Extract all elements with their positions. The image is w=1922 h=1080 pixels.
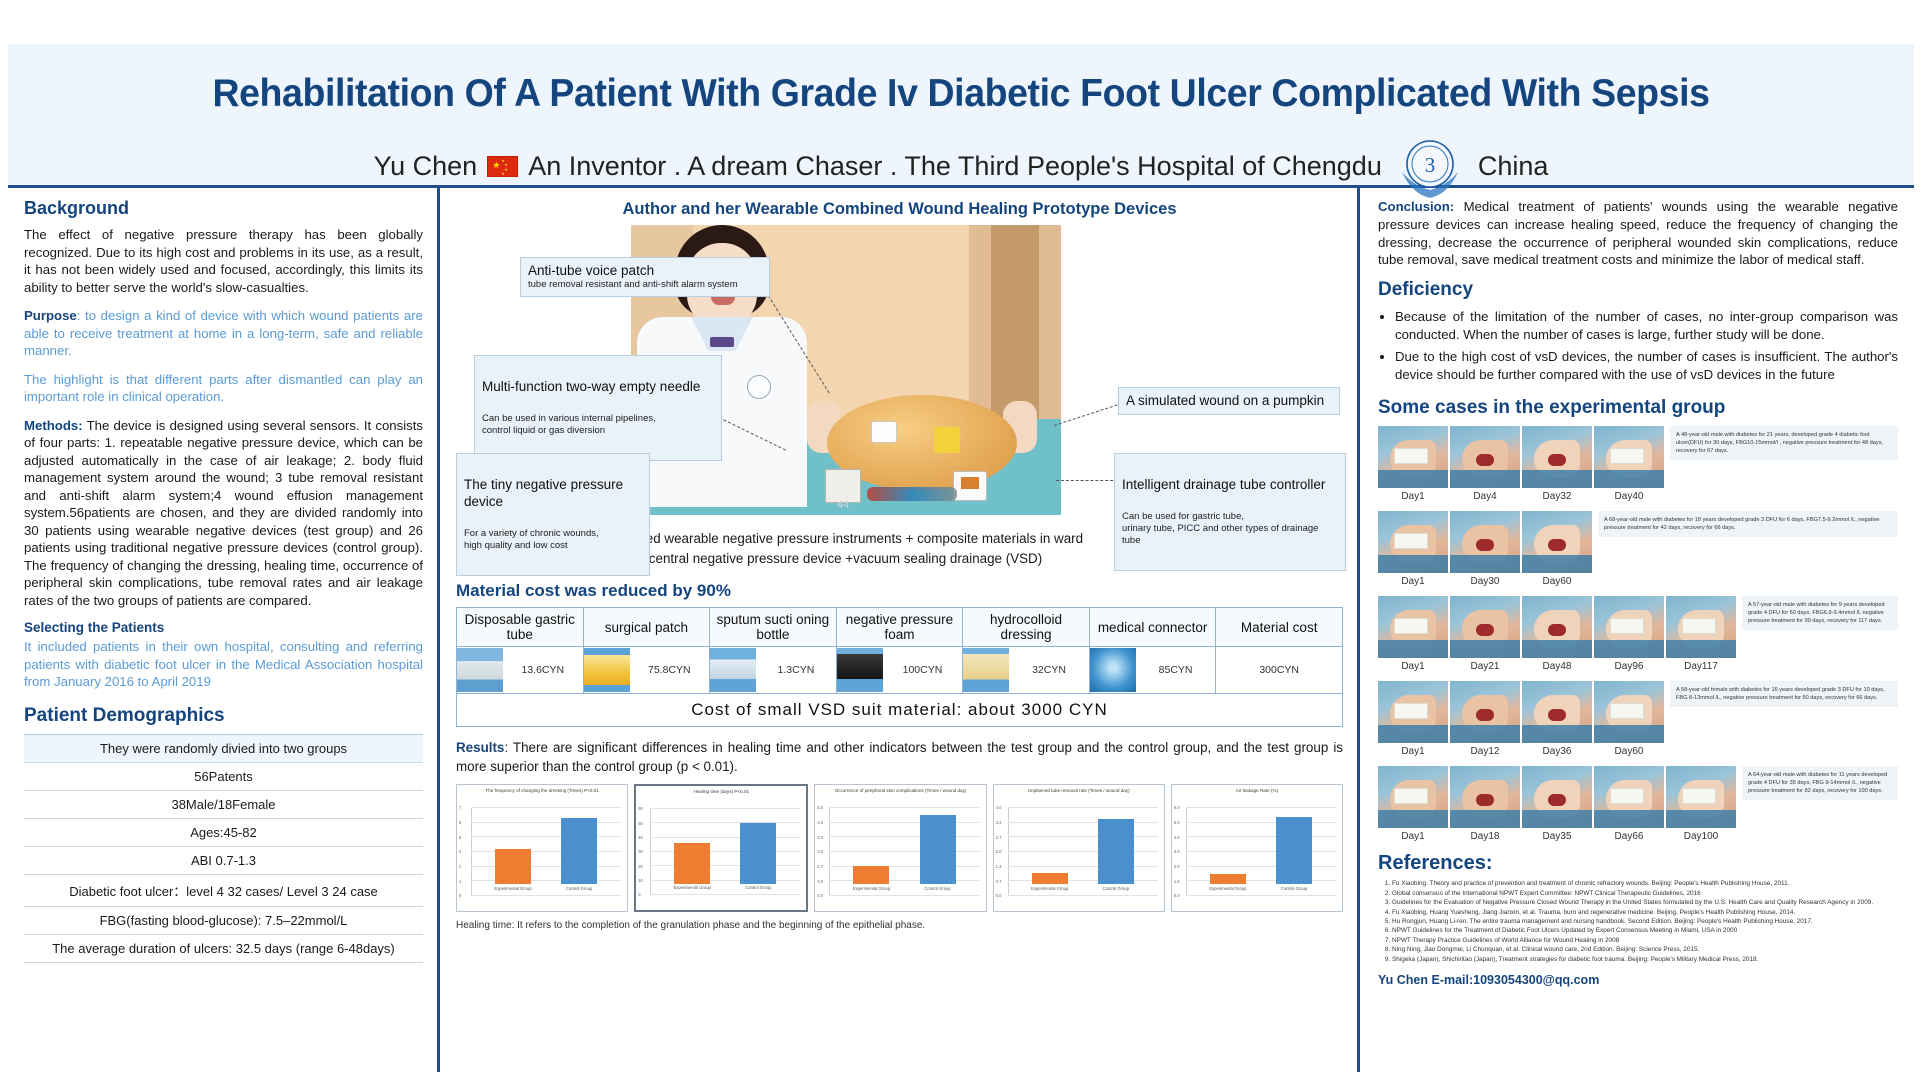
case-image-cell: Day66: [1594, 766, 1664, 842]
case-image-cell: Day1: [1378, 426, 1448, 502]
case-drape: [1522, 810, 1592, 828]
photo-voice-patch-device: [871, 421, 897, 443]
leader-line-4: [1056, 480, 1118, 481]
case-day-label: Day30: [1450, 573, 1520, 587]
photo-hospital-badge: [747, 375, 771, 399]
reference-item: Fu Xiaobing, Huang Yuesheng, Jiang Jianx…: [1392, 908, 1898, 917]
case-image-cell: Day36: [1522, 681, 1592, 757]
cost-cell-inner: 75.8CYN: [584, 647, 710, 693]
poster-columns: Background The effect of negative pressu…: [8, 188, 1914, 1072]
cost-header-cell: surgical patch: [583, 608, 710, 647]
case-image-cell: Day21: [1450, 596, 1520, 672]
case-day-label: Day1: [1378, 743, 1448, 757]
cost-header-cell: hydrocolloid dressing: [963, 608, 1090, 647]
case-photo: [1522, 511, 1592, 573]
cost-price: 100CYN: [883, 664, 963, 676]
case-day-label: Day35: [1522, 828, 1592, 842]
case-row: Day1Day30Day60A 68-year-old male with di…: [1378, 511, 1898, 587]
callout-title: Anti-tube voice patch: [528, 262, 762, 279]
chart-y-tick: 2.0: [1174, 864, 1180, 869]
chart-bar: [1210, 874, 1246, 884]
case-image-cell: Day96: [1594, 596, 1664, 672]
callout-title: The tiny negative pressure device: [464, 476, 642, 510]
case-drape: [1378, 555, 1448, 573]
chart-title: Unplanned tube removal rate (Times / wou…: [996, 788, 1162, 806]
callout-simulated-wound: A simulated wound on a pumpkin: [1118, 387, 1340, 415]
background-heading: Background: [24, 198, 423, 219]
chart-y-tick: 0.8: [817, 879, 823, 884]
demo-cell: Ages:45-82: [24, 818, 423, 846]
cost-price: 1.3CYN: [756, 664, 836, 676]
table-row-headers: Disposable gastric tube surgical patch s…: [457, 608, 1343, 647]
case-day-label: Day1: [1378, 488, 1448, 502]
demo-cell: FBG(fasting blood-glucose): 7.5–22mmol/L: [24, 906, 423, 934]
chart-gridline: [650, 837, 800, 838]
chart-gridline: [1186, 851, 1336, 852]
purpose-paragraph: Purpose: to design a kind of device with…: [24, 307, 423, 360]
list-item: Because of the limitation of the number …: [1395, 308, 1898, 344]
case-day-label: Day66: [1594, 828, 1664, 842]
case-drape: [1378, 810, 1448, 828]
cost-header-cell: sputum sucti oning bottle: [710, 608, 837, 647]
conclusion-label: Conclusion:: [1378, 199, 1454, 214]
chart-gridline: [471, 836, 621, 837]
cases-container: Day1Day4Day32Day40A 48-year-old male wit…: [1378, 426, 1898, 842]
callout-subtitle: Can be used for gastric tube, urinary tu…: [1122, 511, 1338, 547]
chart-gridline: [1008, 822, 1158, 823]
chart-y-tick: 40: [638, 835, 643, 840]
case-day-label: Day60: [1594, 743, 1664, 757]
case-image-cell: Day1: [1378, 596, 1448, 672]
case-photo: [1522, 766, 1592, 828]
table-row: Ages:45-82: [24, 818, 423, 846]
list-item: Due to the high cost of vsD devices, the…: [1395, 348, 1898, 384]
purpose-text: : to design a kind of device with which …: [24, 308, 423, 358]
case-dressing: [1394, 703, 1428, 719]
author-name: Yu Chen: [374, 151, 478, 182]
chart-bar: [1032, 873, 1068, 885]
cost-value-cell: 100CYN: [836, 647, 963, 694]
case-photo: [1594, 681, 1664, 743]
highlight-text: The highlight is that different parts af…: [24, 371, 423, 406]
chart-2: Healing time (days) P<0.016050403020100E…: [634, 784, 808, 912]
case-day-label: Day117: [1666, 658, 1736, 672]
case-drape: [1666, 810, 1736, 828]
case-day-label: Day32: [1522, 488, 1592, 502]
case-photo: [1450, 681, 1520, 743]
callout-multifunction-needle: Multi-function two-way empty needle Can …: [474, 355, 722, 461]
chart-y-tick: 4.0: [1174, 835, 1180, 840]
reference-item: Guidelines for the Evaluation of Negativ…: [1392, 898, 1898, 907]
case-dressing: [1394, 788, 1428, 804]
chart-4: Unplanned tube removal rate (Times / wou…: [993, 784, 1165, 912]
page-title: Rehabilitation Of A Patient With Grade I…: [46, 72, 1876, 116]
chart-gridline: [650, 808, 800, 809]
chart-gridline: [829, 866, 979, 867]
table-row: 38Male/18Female: [24, 790, 423, 818]
chart-y-tick: 1: [459, 879, 461, 884]
deficiency-heading: Deficiency: [1378, 279, 1898, 301]
case-wound: [1548, 624, 1566, 636]
case-drape: [1666, 640, 1736, 658]
case-image-cell: Day1: [1378, 681, 1448, 757]
table-row: 56Patents: [24, 762, 423, 790]
cost-header-cell: negative pressure foam: [836, 608, 963, 647]
chart-gridline: [1186, 836, 1336, 837]
column-right: Conclusion: Medical treatment of patient…: [1360, 188, 1914, 1072]
product-thumbnail-hydrocolloid-dressing: [963, 648, 1009, 692]
case-image-strip: Day1Day12Day36Day60: [1378, 681, 1664, 757]
background-text: The effect of negative pressure therapy …: [24, 226, 423, 296]
case-drape: [1450, 640, 1520, 658]
chart-y-tick: 50: [638, 821, 643, 826]
case-drape: [1378, 640, 1448, 658]
chart-gridline: [1186, 895, 1336, 896]
results-label: Results: [456, 740, 504, 755]
chart-y-tick: 0.0: [817, 893, 823, 898]
case-drape: [1594, 470, 1664, 488]
material-cost-heading: Material cost was reduced by 90%: [456, 581, 1343, 601]
case-image-cell: Day60: [1594, 681, 1664, 757]
demo-cell: 56Patents: [24, 762, 423, 790]
chart-bar: [1276, 817, 1312, 884]
case-photo: [1522, 596, 1592, 658]
cost-value-cell: 75.8CYN: [583, 647, 710, 694]
chart-y-tick: 4.2: [817, 820, 823, 825]
cost-cell-inner: 100CYN: [837, 647, 963, 693]
chart-y-tick: 2: [459, 864, 461, 869]
case-photo: [1450, 511, 1520, 573]
chart-category-label: Control Group: [911, 886, 965, 891]
photo-corner-number: 44: [837, 499, 849, 511]
contact-email[interactable]: Yu Chen E-mail:1093054300@qq.com: [1378, 973, 1898, 987]
column-left: Background The effect of negative pressu…: [8, 188, 440, 1072]
reference-item: Shigeka (Japan), Shichiritao (Japan), Tr…: [1392, 955, 1898, 964]
chart-y-tick: 0: [638, 892, 640, 897]
callout-subtitle: tube removal resistant and anti-shift al…: [528, 279, 762, 291]
case-day-label: Day18: [1450, 828, 1520, 842]
case-image-strip: Day1Day30Day60: [1378, 511, 1592, 587]
case-day-label: Day36: [1522, 743, 1592, 757]
case-day-label: Day40: [1594, 488, 1664, 502]
chart-3: Occurrence of peripheral skin complicati…: [814, 784, 986, 912]
callout-title: Multi-function two-way empty needle: [482, 378, 714, 395]
case-description: A 64-year-old male with diabetes for 11 …: [1742, 766, 1898, 800]
methods-text: The device is designed using several sen…: [24, 418, 423, 608]
chart-gridline: [1008, 807, 1158, 808]
chart-gridline: [829, 895, 979, 896]
callout-subtitle: For a variety of chronic wounds, high qu…: [464, 528, 642, 552]
cost-price: 85CYN: [1136, 664, 1216, 676]
chart-y-tick: 5: [459, 835, 461, 840]
case-image-cell: Day12: [1450, 681, 1520, 757]
chart-y-tick: 3.3: [996, 820, 1002, 825]
case-day-label: Day60: [1522, 573, 1592, 587]
case-wound: [1548, 539, 1566, 551]
affiliation-text: An Inventor . A dream Chaser . The Third…: [528, 151, 1382, 182]
reference-item: NPWT Therapy Practice Guidelines of Worl…: [1392, 936, 1898, 945]
chart-y-tick: 5.0: [817, 805, 823, 810]
chart-bar: [920, 815, 956, 885]
case-photo: [1594, 596, 1664, 658]
chart-y-tick: 0.0: [996, 893, 1002, 898]
case-drape: [1522, 725, 1592, 743]
chart-y-tick: 60: [638, 806, 643, 811]
case-drape: [1594, 640, 1664, 658]
chart-y-tick: 2.5: [817, 849, 823, 854]
chart-y-tick: 6: [459, 820, 461, 825]
case-drape: [1450, 555, 1520, 573]
demo-cell: Diabetic foot ulcer：level 4 32 cases/ Le…: [24, 874, 423, 906]
case-photo: [1378, 426, 1448, 488]
conclusion-text: Medical treatment of patients' wounds us…: [1378, 199, 1898, 267]
case-photo: [1378, 596, 1448, 658]
cost-header-cell: Material cost: [1216, 608, 1343, 647]
flag-star-4: ★: [501, 172, 505, 176]
case-image-cell: Day60: [1522, 511, 1592, 587]
chart-y-tick: 7: [459, 805, 461, 810]
methods-paragraph: Methods: The device is designed using se…: [24, 417, 423, 610]
case-photo: [1378, 511, 1448, 573]
case-wound: [1548, 794, 1566, 806]
case-drape: [1594, 725, 1664, 743]
case-photo: [1378, 766, 1448, 828]
photo-wires: [867, 487, 957, 501]
table-row: ABI 0.7-1.3: [24, 846, 423, 874]
chart-y-tick: 0.0: [1174, 893, 1180, 898]
chart-y-tick: 1.3: [996, 864, 1002, 869]
purpose-label: Purpose: [24, 308, 77, 323]
cost-cell-inner: 300CYN: [1216, 647, 1342, 693]
selecting-patients-heading: Selecting the Patients: [24, 620, 423, 635]
case-dressing: [1394, 448, 1428, 464]
chart-y-tick: 30: [638, 849, 643, 854]
case-drape: [1450, 470, 1520, 488]
case-row: Day1Day12Day36Day60A 58-year-old female …: [1378, 681, 1898, 757]
case-image-cell: Day48: [1522, 596, 1592, 672]
cost-value-cell: 1.3CYN: [710, 647, 837, 694]
case-day-label: Day1: [1378, 658, 1448, 672]
chart-y-tick: 10: [638, 878, 643, 883]
chart-title: Healing time (days) P<0.01: [638, 789, 804, 807]
demo-cell: The average duration of ulcers: 32.5 day…: [24, 934, 423, 962]
cost-value-cell: 13.6CYN: [457, 647, 584, 694]
photo-section-title: Author and her Wearable Combined Wound H…: [456, 200, 1343, 219]
case-dressing: [1610, 448, 1644, 464]
case-dressing: [1682, 618, 1716, 634]
results-text: : There are significant differences in h…: [456, 740, 1343, 774]
deficiency-list: Because of the limitation of the number …: [1378, 308, 1898, 383]
flag-star-2: ★: [504, 163, 508, 167]
callout-title: Intelligent drainage tube controller: [1122, 476, 1338, 493]
chart-plot-area: 5.04.23.32.51.70.80.0Experimental GroupC…: [829, 807, 979, 895]
case-photo: [1450, 596, 1520, 658]
case-day-label: Day96: [1594, 658, 1664, 672]
chart-bar: [1098, 819, 1134, 885]
chart-y-tick: 2.0: [996, 849, 1002, 854]
case-day-label: Day100: [1666, 828, 1736, 842]
case-drape: [1522, 555, 1592, 573]
chart-y-tick: 20: [638, 864, 643, 869]
case-photo: [1378, 681, 1448, 743]
chart-category-label: Control Group: [1267, 886, 1321, 891]
material-cost-table: Disposable gastric tube surgical patch s…: [456, 607, 1343, 727]
demo-cell: ABI 0.7-1.3: [24, 846, 423, 874]
case-wound: [1476, 454, 1494, 466]
photo-tie: [710, 337, 734, 347]
chart-gridline: [1008, 851, 1158, 852]
chart-category-label: Experimental Group: [844, 886, 898, 891]
chart-gridline: [471, 866, 621, 867]
case-image-strip: Day1Day18Day35Day66Day100: [1378, 766, 1736, 842]
chart-title: Air leakage Rate (%): [1174, 788, 1340, 806]
table-row: The average duration of ulcers: 32.5 day…: [24, 934, 423, 962]
chart-gridline: [471, 851, 621, 852]
chart-title: Occurrence of peripheral skin complicati…: [817, 788, 983, 806]
table-row-footer: Cost of small VSD suit material: about 3…: [457, 694, 1343, 727]
chart-y-tick: 3.0: [1174, 849, 1180, 854]
cost-cell-inner: 13.6CYN: [457, 647, 583, 693]
case-dressing: [1394, 618, 1428, 634]
cost-footer-cell: Cost of small VSD suit material: about 3…: [457, 694, 1343, 727]
reference-item: NPWT Guidelines for the Treatment of Dia…: [1392, 926, 1898, 935]
table-row-values: 13.6CYN 75.8CYN 1.3CYN 100CYN 32CYN 85CY…: [457, 647, 1343, 694]
chart-y-tick: 0.7: [996, 879, 1002, 884]
patient-demographics-table: They were randomly divied into two group…: [24, 734, 423, 963]
case-image-cell: Day35: [1522, 766, 1592, 842]
callout-anti-tube-voice-patch: Anti-tube voice patch tube removal resis…: [520, 257, 770, 297]
case-day-label: Day21: [1450, 658, 1520, 672]
case-description: A 68-year-old male with diabetes for 18 …: [1598, 511, 1898, 537]
reference-item: Hu Rongjun, Huang Li-ren. The entire tra…: [1392, 917, 1898, 926]
cost-cell-inner: 32CYN: [963, 647, 1089, 693]
case-image-strip: Day1Day4Day32Day40: [1378, 426, 1664, 502]
references-heading: References:: [1378, 852, 1898, 875]
chart-bar: [740, 823, 776, 884]
healing-time-note: Healing time: It refers to the completio…: [456, 920, 1343, 931]
case-image-cell: Day4: [1450, 426, 1520, 502]
case-row: Day1Day4Day32Day40A 48-year-old male wit…: [1378, 426, 1898, 502]
chart-y-tick: 3.3: [817, 835, 823, 840]
case-drape: [1450, 725, 1520, 743]
case-drape: [1450, 810, 1520, 828]
chart-plot-area: 6.05.04.03.02.01.00.0Experimental GroupC…: [1186, 807, 1336, 895]
chart-gridline: [829, 836, 979, 837]
chart-y-tick: 1.0: [1174, 879, 1180, 884]
chart-gridline: [650, 865, 800, 866]
table-row: Diabetic foot ulcer：level 4 32 cases/ Le…: [24, 874, 423, 906]
column-middle: Author and her Wearable Combined Wound H…: [440, 188, 1360, 1072]
case-description: A 58-year-old female with diabetes for 1…: [1670, 681, 1898, 707]
case-drape: [1378, 725, 1448, 743]
product-thumbnail-pressure-foam: [837, 648, 883, 692]
case-image-cell: Day32: [1522, 426, 1592, 502]
cost-price: 300CYN: [1216, 664, 1342, 676]
conclusion-paragraph: Conclusion: Medical treatment of patient…: [1378, 198, 1898, 269]
case-day-label: Day1: [1378, 828, 1448, 842]
methods-label: Methods:: [24, 418, 83, 433]
cost-cell-inner: 1.3CYN: [710, 647, 836, 693]
case-photo: [1450, 426, 1520, 488]
chart-gridline: [650, 851, 800, 852]
reference-item: Global consensus of the International NP…: [1392, 889, 1898, 898]
chart-category-label: Experimental Group: [665, 885, 719, 890]
case-dressing: [1682, 788, 1716, 804]
case-wound: [1476, 539, 1494, 551]
selecting-patients-text: It included patients in their own hospit…: [24, 638, 423, 691]
case-photo: [1522, 426, 1592, 488]
demo-cell: They were randomly divied into two group…: [24, 734, 423, 762]
case-image-cell: Day1: [1378, 766, 1448, 842]
case-photo: [1666, 596, 1736, 658]
prototype-photo-area: 44 Anti-tube voice patch tube removal re…: [456, 225, 1346, 515]
callout-subtitle: Can be used in various internal pipeline…: [482, 413, 714, 437]
results-charts: The frequency of changing the dressing (…: [456, 784, 1343, 912]
case-photo: [1522, 681, 1592, 743]
case-photo: [1594, 426, 1664, 488]
cases-heading: Some cases in the experimental group: [1378, 397, 1898, 419]
flag-star-large: ★: [492, 161, 500, 170]
chart-category-label: Experimental Group: [486, 886, 540, 891]
case-wound: [1476, 709, 1494, 721]
chart-gridline: [1186, 807, 1336, 808]
results-paragraph: Results: There are significant differenc…: [456, 739, 1343, 776]
case-image-cell: Day30: [1450, 511, 1520, 587]
case-day-label: Day12: [1450, 743, 1520, 757]
chart-gridline: [471, 822, 621, 823]
case-drape: [1522, 640, 1592, 658]
chart-gridline: [650, 880, 800, 881]
chart-5: Air leakage Rate (%)6.05.04.03.02.01.00.…: [1171, 784, 1343, 912]
product-thumbnail-medical-connector: [1090, 648, 1136, 692]
chart-y-tick: 4.0: [996, 805, 1002, 810]
patient-demographics-heading: Patient Demographics: [24, 705, 423, 727]
case-dressing: [1610, 618, 1644, 634]
chart-category-label: Control Group: [1089, 886, 1143, 891]
photo-negative-pressure-device: [825, 469, 861, 503]
chart-gridline: [829, 851, 979, 852]
cost-cell-inner: 85CYN: [1090, 647, 1216, 693]
chart-gridline: [829, 880, 979, 881]
chart-gridline: [829, 807, 979, 808]
case-photo: [1450, 766, 1520, 828]
chart-gridline: [1008, 836, 1158, 837]
chart-gridline: [1186, 880, 1336, 881]
chart-y-tick: 6.0: [1174, 805, 1180, 810]
case-photo: [1594, 766, 1664, 828]
case-day-label: Day4: [1450, 488, 1520, 502]
photo-simulated-wound: [934, 427, 960, 453]
poster-root: Rehabilitation Of A Patient With Grade I…: [0, 0, 1922, 1080]
table-row: They were randomly divied into two group…: [24, 734, 423, 762]
poster-header: Rehabilitation Of A Patient With Grade I…: [8, 44, 1914, 188]
chart-y-tick: 0: [459, 893, 461, 898]
chart-category-label: Control Group: [731, 885, 785, 890]
chart-gridline: [1008, 866, 1158, 867]
product-thumbnail-surgical-patch: [584, 648, 630, 692]
reference-item: Fu Xiaobing. Theory and practice of prev…: [1392, 879, 1898, 888]
photo-drainage-controller: [953, 471, 987, 501]
cost-price: 75.8CYN: [630, 664, 710, 676]
chart-category-label: Control Group: [552, 886, 606, 891]
cost-header-cell: Disposable gastric tube: [457, 608, 584, 647]
demo-cell: 38Male/18Female: [24, 790, 423, 818]
callout-title: A simulated wound on a pumpkin: [1126, 392, 1332, 409]
table-row: FBG(fasting blood-glucose): 7.5–22mmol/L: [24, 906, 423, 934]
case-photo: [1666, 766, 1736, 828]
chart-bar: [853, 866, 889, 885]
svg-text:3: 3: [1425, 153, 1436, 177]
